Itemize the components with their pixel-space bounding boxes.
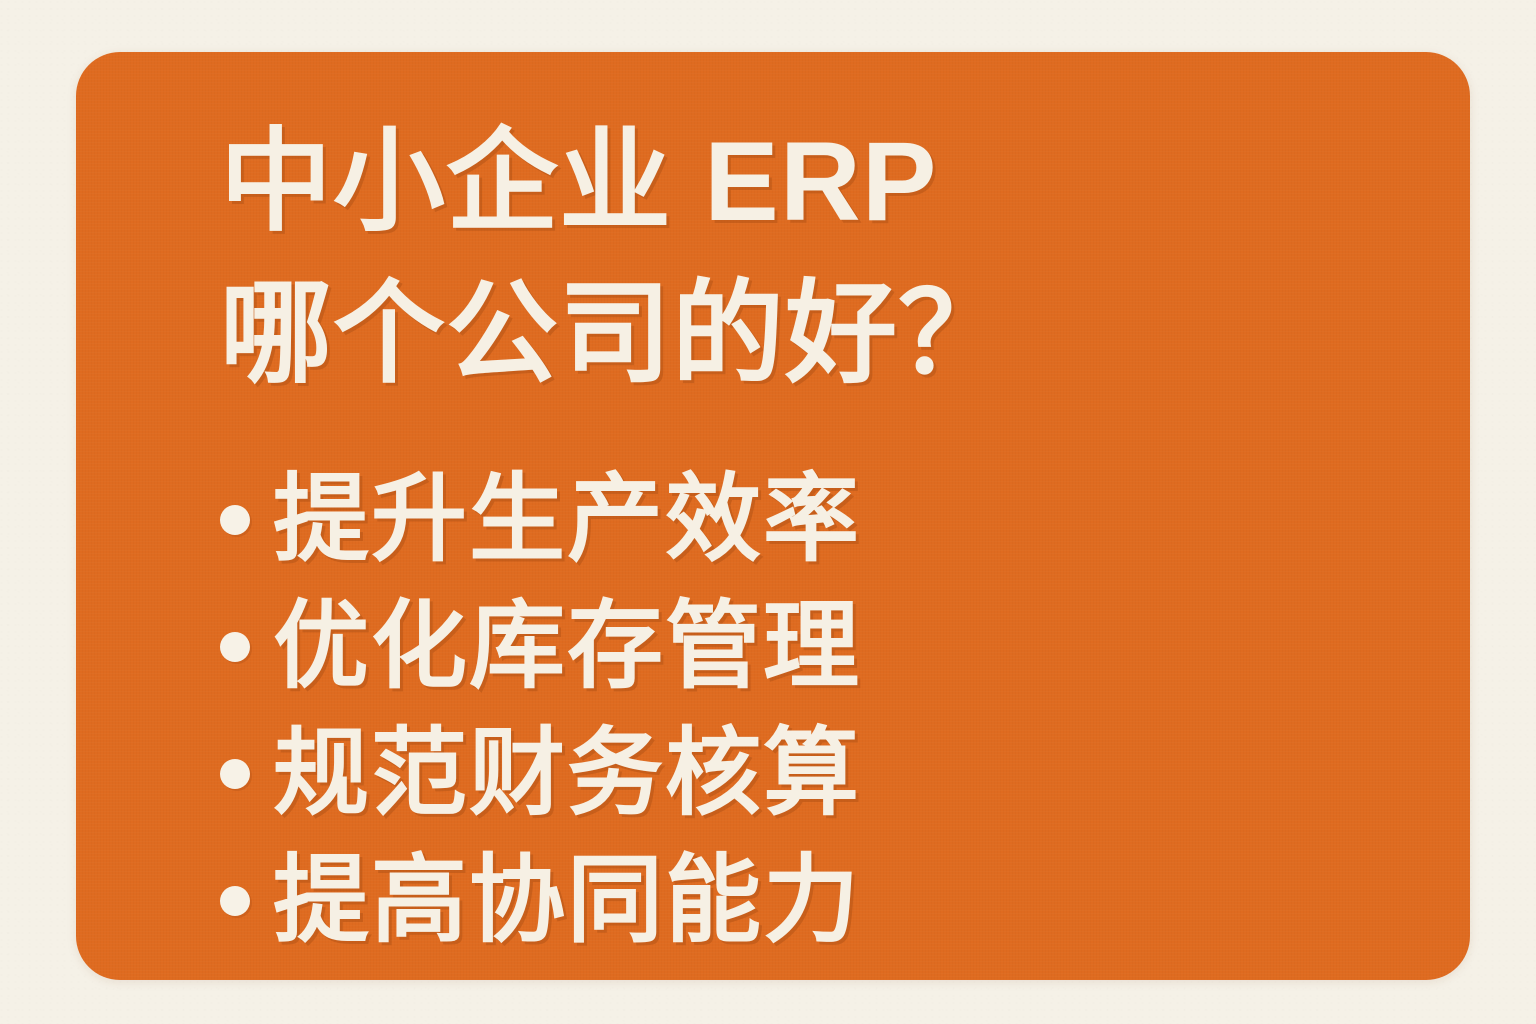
bullet-dot-icon [220, 759, 250, 789]
poster-canvas: 中小企业 ERP 哪个公司的好？ 提升生产效率 优化库存管理 规范财务核算 [0, 0, 1536, 1024]
benefit-label-1: 提升生产效率 [273, 472, 861, 568]
benefit-label-2: 优化库存管理 [273, 599, 861, 695]
benefit-label-4: 提高协同能力 [273, 853, 861, 949]
headline-line-1: 中小企业 ERP [220, 106, 1400, 258]
orange-content-card: 中小企业 ERP 哪个公司的好？ 提升生产效率 优化库存管理 规范财务核算 [76, 52, 1470, 980]
list-item: 规范财务核算 [220, 710, 1400, 837]
card-inner: 中小企业 ERP 哪个公司的好？ 提升生产效率 优化库存管理 规范财务核算 [76, 52, 1470, 980]
list-item: 优化库存管理 [220, 583, 1400, 710]
headline: 中小企业 ERP 哪个公司的好？ [220, 106, 1400, 410]
benefit-list: 提升生产效率 优化库存管理 规范财务核算 提高协同能力 [220, 456, 1400, 964]
bullet-dot-icon [220, 632, 250, 662]
list-item: 提高协同能力 [220, 837, 1400, 964]
list-item: 提升生产效率 [220, 456, 1400, 583]
bullet-dot-icon [220, 505, 250, 535]
benefit-label-3: 规范财务核算 [273, 726, 861, 822]
bullet-dot-icon [220, 886, 250, 916]
headline-line-2: 哪个公司的好？ [220, 258, 1400, 410]
